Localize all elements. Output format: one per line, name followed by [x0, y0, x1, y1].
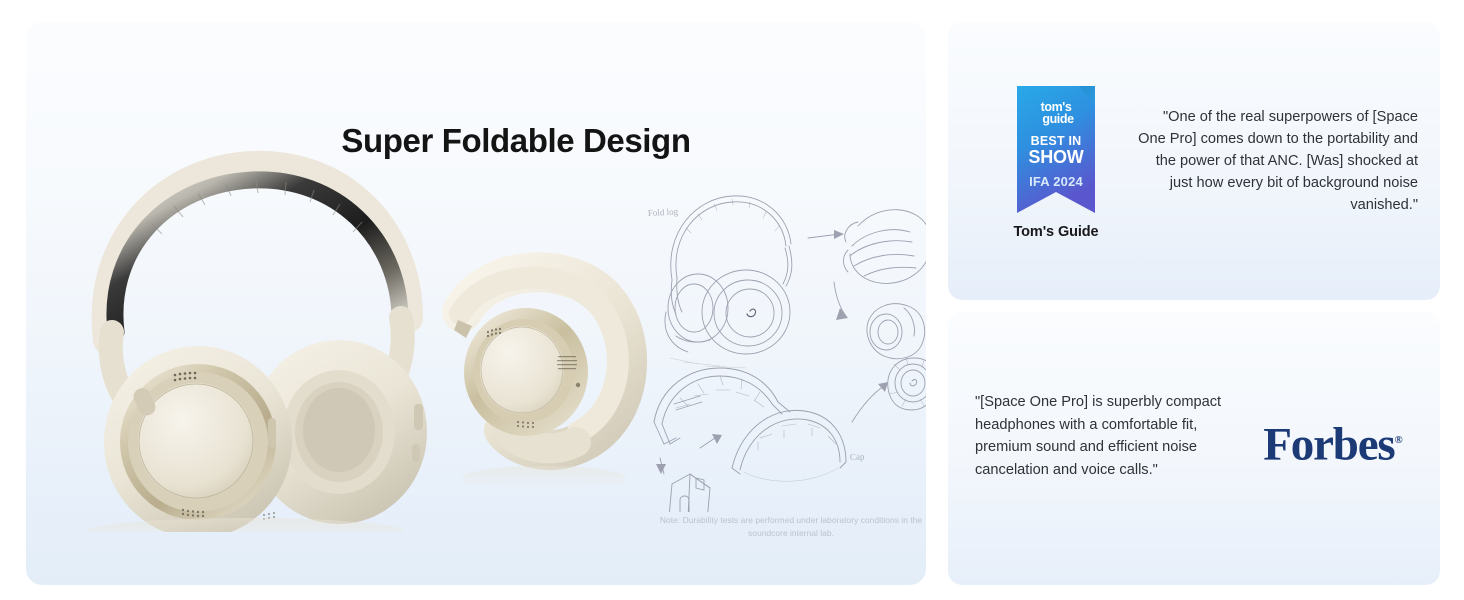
- toms-guide-award-badge: tom's guide BEST IN SHOW IFA 2024 Tom's …: [1004, 86, 1108, 240]
- sketch-annotation-top: Fold log: [648, 206, 679, 218]
- sketch-annotation-bottom: Cap: [850, 451, 865, 462]
- durability-note: Note: Durability tests are performed und…: [656, 514, 926, 540]
- product-photo-folded-headphones: [426, 252, 666, 502]
- forbes-logo: Forbes®: [1248, 416, 1418, 469]
- award-ribbon: tom's guide BEST IN SHOW IFA 2024: [1017, 86, 1095, 213]
- registered-trademark-icon: ®: [1394, 434, 1402, 446]
- product-photo-open-headphones: [56, 132, 456, 532]
- forbes-wordmark: Forbes: [1263, 419, 1394, 471]
- ribbon-icon: [1017, 86, 1095, 213]
- review-quote-toms-guide: "One of the real superpowers of [Space O…: [1133, 106, 1418, 216]
- product-marketing-screenshot: Super Foldable Design: [0, 0, 1464, 600]
- review-quote-forbes: "[Space One Pro] is superbly compact hea…: [975, 391, 1235, 481]
- foldable-design-panel: Super Foldable Design: [26, 22, 926, 585]
- review-card-forbes: "[Space One Pro] is superbly compact hea…: [948, 312, 1440, 585]
- review-source-name-toms-guide: Tom's Guide: [1004, 224, 1108, 240]
- review-card-toms-guide: tom's guide BEST IN SHOW IFA 2024 Tom's …: [948, 22, 1440, 300]
- design-sketch-illustration: Fold log Cap: [636, 172, 926, 512]
